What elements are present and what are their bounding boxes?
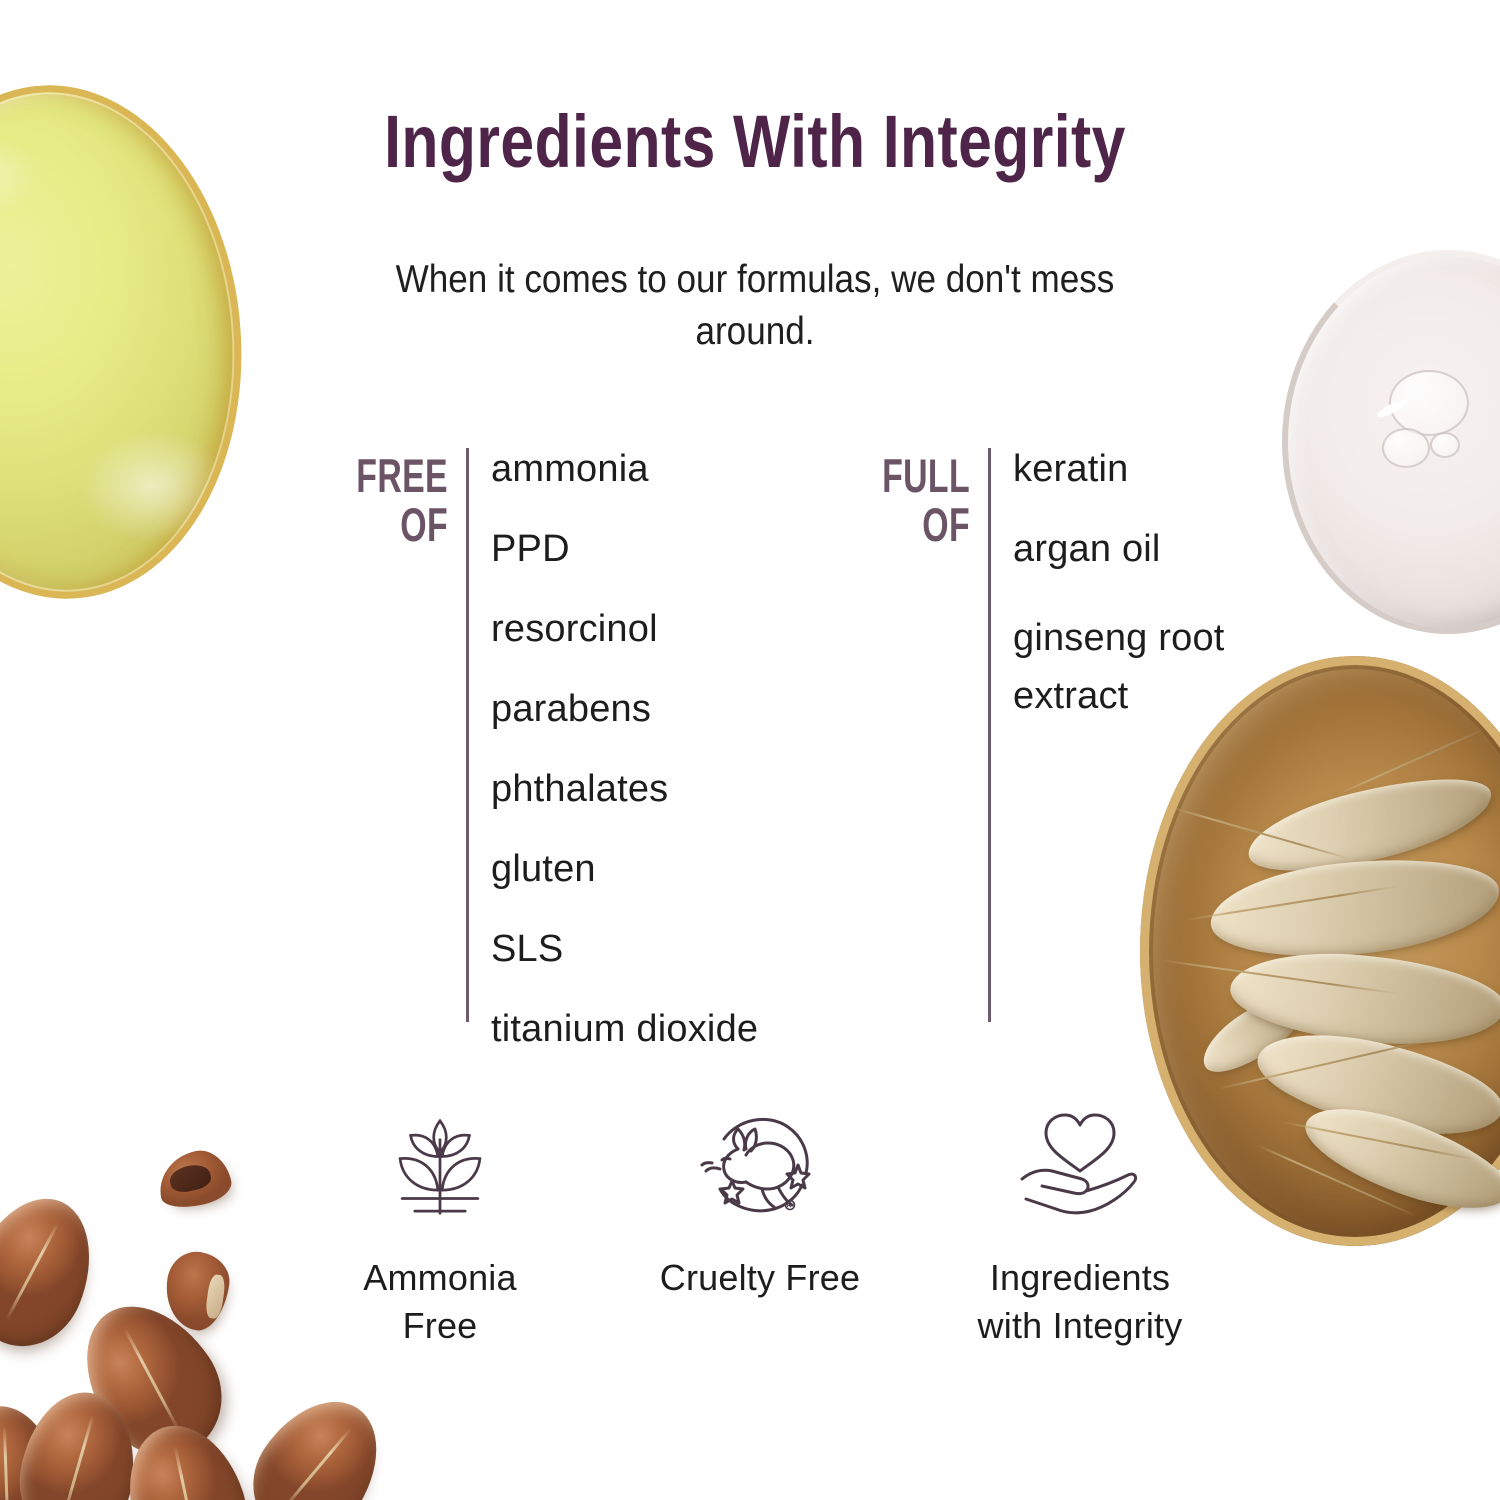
list-item: SLS xyxy=(491,930,758,968)
list-item: ammonia xyxy=(491,450,758,488)
page-title: Ingredients With Integrity xyxy=(300,104,1210,179)
list-item: titanium dioxide xyxy=(491,1010,758,1048)
list-item: argan oil xyxy=(1013,530,1313,568)
full-of-list: keratin argan oil ginseng root extract xyxy=(1013,448,1313,726)
full-of-label: FULL OF xyxy=(848,448,970,550)
sprout-plant-icon xyxy=(280,1104,600,1230)
badge-cruelty-free: Cruelty Free xyxy=(600,1104,920,1349)
full-of-divider xyxy=(988,448,991,1022)
page-subtitle: When it comes to our formulas, we don't … xyxy=(355,254,1156,359)
badge-ingredients-integrity: Ingredients with Integrity xyxy=(920,1104,1240,1349)
free-of-list: ammonia PPD resorcinol parabens phthalat… xyxy=(491,448,758,1048)
badge-label: Cruelty Free xyxy=(600,1254,920,1302)
ingredients-infographic: Ingredients With Integrity When it comes… xyxy=(0,0,1500,1500)
full-of-block: FULL OF keratin argan oil ginseng root e… xyxy=(800,448,1313,1022)
hand-holding-heart-icon xyxy=(920,1104,1240,1230)
argan-nut xyxy=(231,1378,404,1500)
list-item: resorcinol xyxy=(491,610,758,648)
list-item: parabens xyxy=(491,690,758,728)
list-item: ginseng root extract xyxy=(1013,610,1313,726)
list-item: phthalates xyxy=(491,770,758,808)
list-item: gluten xyxy=(491,850,758,888)
list-item: keratin xyxy=(1013,450,1313,488)
badge-ammonia-free: Ammonia Free xyxy=(280,1104,600,1349)
free-of-block: FREE OF ammonia PPD resorcinol parabens … xyxy=(278,448,758,1048)
list-item: PPD xyxy=(491,530,758,568)
ingredient-lists: FREE OF ammonia PPD resorcinol parabens … xyxy=(0,448,1500,1048)
free-of-divider xyxy=(466,448,469,1022)
argan-shell-fragment xyxy=(153,1145,235,1213)
free-of-label: FREE OF xyxy=(326,448,448,550)
badge-label: Ammonia Free xyxy=(280,1254,600,1349)
certification-badges: Ammonia Free xyxy=(280,1104,1240,1349)
leaping-bunny-icon xyxy=(600,1104,920,1230)
badge-label: Ingredients with Integrity xyxy=(920,1254,1240,1349)
